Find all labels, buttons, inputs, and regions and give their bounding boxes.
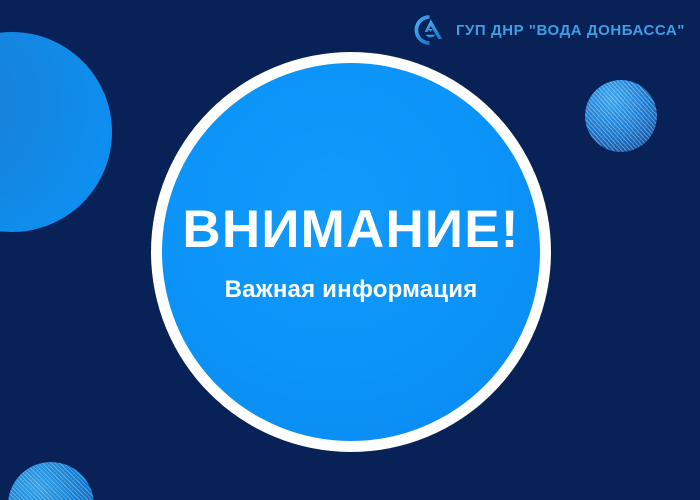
brand-name-label: ГУП ДНР "ВОДА ДОНБАССА" xyxy=(456,23,685,38)
announcement-poster: ВНИМАНИЕ! Важная информация ГУП ДНР "ВОД… xyxy=(0,0,700,500)
page-subtitle: Важная информация xyxy=(225,278,478,302)
water-utility-triangle-logo-icon xyxy=(413,13,447,47)
announcement-circle: ВНИМАНИЕ! Важная информация xyxy=(162,63,540,441)
striped-sphere-decoration-top-right xyxy=(585,80,657,152)
announcement-circle-ring: ВНИМАНИЕ! Важная информация xyxy=(151,52,551,452)
brand-lockup: ГУП ДНР "ВОДА ДОНБАССА" xyxy=(413,13,685,47)
striped-sphere-decoration-bottom-left xyxy=(8,462,94,500)
gradient-circle-decoration-left xyxy=(0,32,112,232)
page-title: ВНИМАНИЕ! xyxy=(182,203,519,256)
